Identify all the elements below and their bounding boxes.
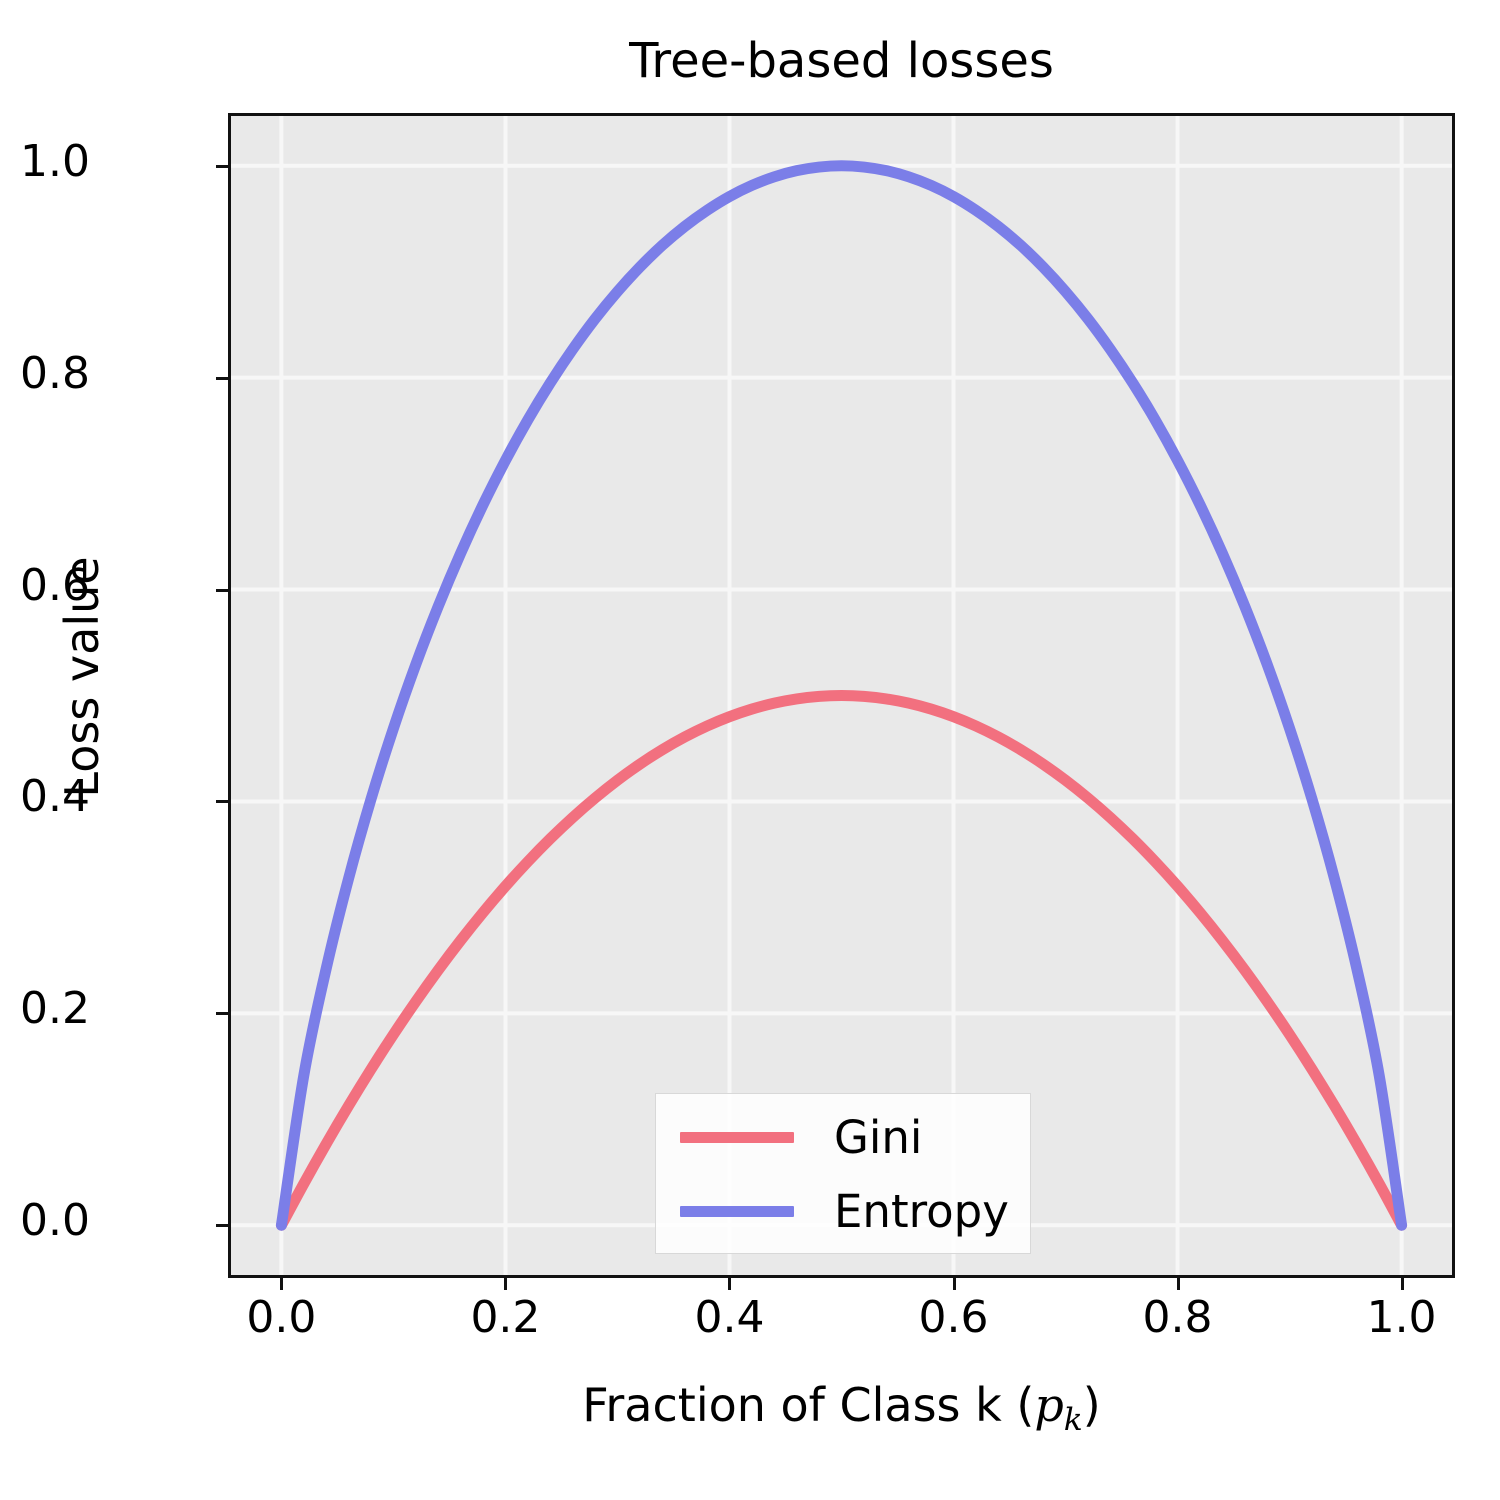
y-tick-label: 0.6 [0, 564, 90, 608]
x-tick-label: 0.6 [874, 1296, 1034, 1340]
x-tick-label: 0.4 [649, 1296, 809, 1340]
legend-label: Gini [834, 1111, 922, 1164]
legend-swatch-entropy [680, 1206, 794, 1217]
x-tick-label: 0.0 [201, 1296, 361, 1340]
x-tick-mark [728, 1278, 731, 1290]
y-tick-mark [216, 1012, 228, 1015]
x-tick-mark [953, 1278, 956, 1290]
y-tick-mark [216, 165, 228, 168]
x-axis-label: Fraction of Class k (pk) [228, 1378, 1455, 1438]
chart-title: Tree-based losses [228, 36, 1455, 86]
x-axis-label-suffix: ) [1083, 1378, 1101, 1432]
y-tick-label: 0.2 [0, 987, 90, 1031]
x-tick-label: 1.0 [1322, 1296, 1482, 1340]
legend-item-gini[interactable]: Gini [656, 1100, 1030, 1174]
y-tick-mark [216, 589, 228, 592]
x-tick-label: 0.8 [1098, 1296, 1258, 1340]
y-tick-label: 0.4 [0, 775, 90, 819]
x-tick-mark [1177, 1278, 1180, 1290]
legend-swatch-gini [680, 1132, 794, 1143]
chart-legend: GiniEntropy [655, 1093, 1031, 1254]
y-tick-label: 0.8 [0, 352, 90, 396]
y-tick-mark [216, 377, 228, 380]
x-tick-label: 0.2 [425, 1296, 585, 1340]
y-tick-mark [216, 800, 228, 803]
x-tick-mark [504, 1278, 507, 1290]
legend-item-entropy[interactable]: Entropy [656, 1174, 1030, 1248]
y-tick-mark [216, 1224, 228, 1227]
x-axis-label-subscript: k [1064, 1402, 1083, 1438]
y-tick-label: 0.0 [0, 1199, 90, 1243]
legend-label: Entropy [834, 1185, 1009, 1238]
y-tick-label: 1.0 [0, 140, 90, 184]
y-axis-label: Loss value [55, 377, 109, 977]
x-tick-mark [280, 1278, 283, 1290]
x-axis-label-prefix: Fraction of Class k ( [582, 1378, 1034, 1432]
x-tick-mark [1401, 1278, 1404, 1290]
chart-figure: Tree-based losses Loss value Fraction of… [0, 0, 1500, 1500]
x-axis-label-var: p [1034, 1378, 1063, 1432]
